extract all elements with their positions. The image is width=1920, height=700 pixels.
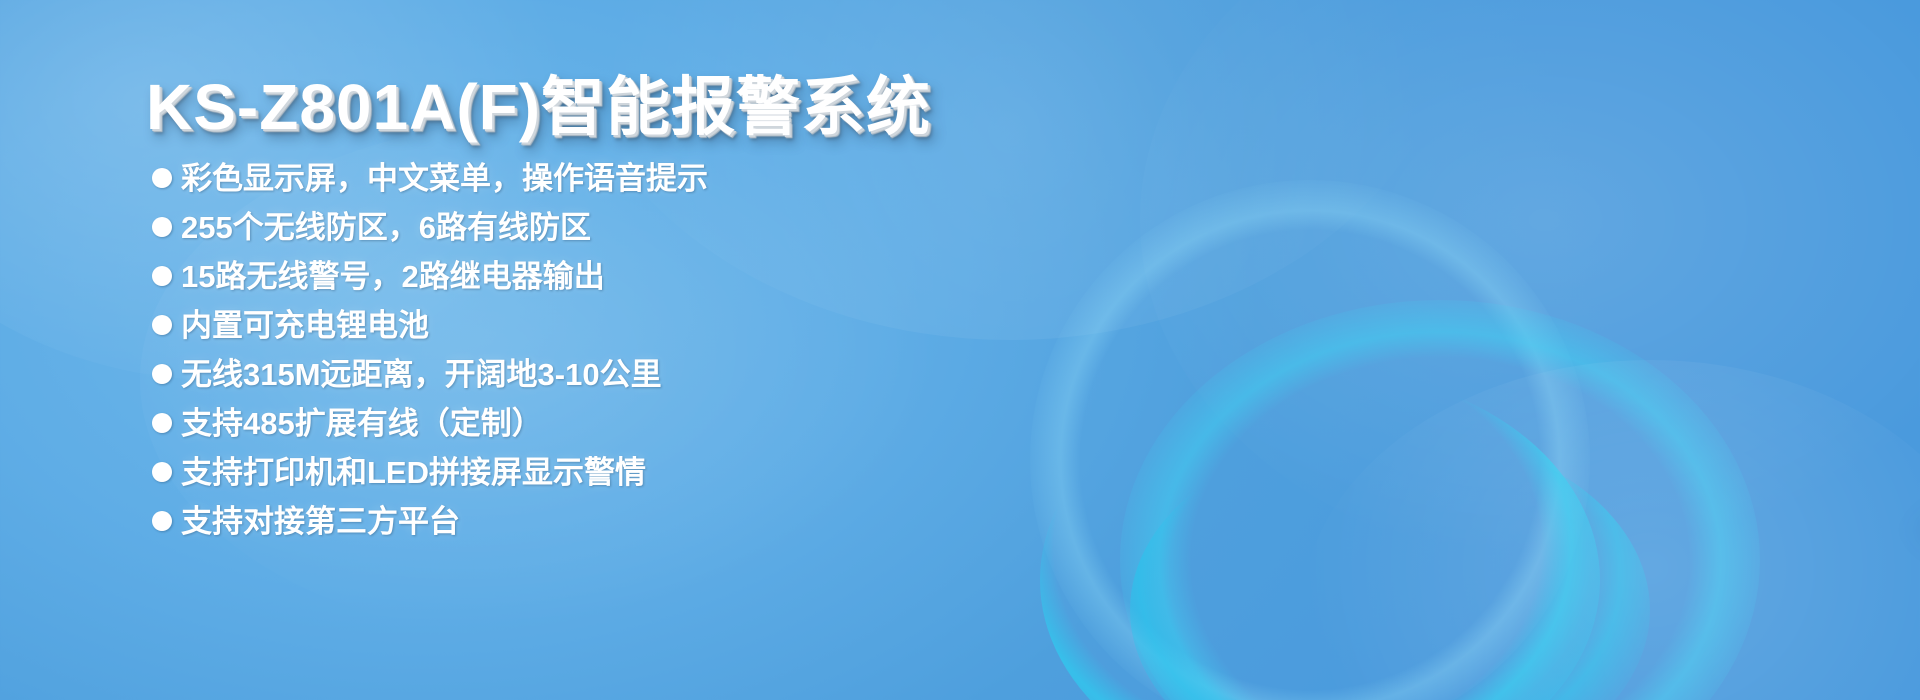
bullet-icon	[152, 266, 172, 286]
feature-item: 支持对接第三方平台	[152, 497, 952, 546]
bullet-icon	[152, 462, 172, 482]
bullet-icon	[152, 168, 172, 188]
feature-item-label: 无线315M远距离，开阔地3-10公里	[181, 350, 662, 399]
banner-content: KS-Z801A(F)智能报警系统 彩色显示屏，中文菜单，操作语音提示255个无…	[0, 0, 960, 700]
feature-list: 彩色显示屏，中文菜单，操作语音提示255个无线防区，6路有线防区15路无线警号，…	[152, 154, 952, 546]
feature-item: 彩色显示屏，中文菜单，操作语音提示	[152, 154, 952, 203]
product-image: 22 27 04-01-01 系统撤防 交流备电故障单布声音火警 123布防45…	[940, 0, 1920, 700]
feature-item: 255个无线防区，6路有线防区	[152, 203, 952, 252]
feature-item-label: 彩色显示屏，中文菜单，操作语音提示	[181, 154, 708, 203]
feature-item-label: 255个无线防区，6路有线防区	[181, 203, 591, 252]
feature-item-label: 支持485扩展有线（定制）	[181, 399, 543, 448]
feature-item: 15路无线警号，2路继电器输出	[152, 252, 952, 301]
feature-item: 内置可充电锂电池	[152, 301, 952, 350]
bullet-icon	[152, 217, 172, 237]
bullet-icon	[152, 511, 172, 531]
bullet-icon	[152, 364, 172, 384]
device-drop-shadow	[1900, 470, 1920, 590]
feature-item: 无线315M远距离，开阔地3-10公里	[152, 350, 952, 399]
page-title: KS-Z801A(F)智能报警系统	[146, 56, 931, 148]
bullet-icon	[152, 413, 172, 433]
feature-item-label: 内置可充电锂电池	[181, 301, 429, 350]
bullet-icon	[152, 315, 172, 335]
feature-item-label: 15路无线警号，2路继电器输出	[181, 252, 605, 301]
feature-item: 支持485扩展有线（定制）	[152, 399, 952, 448]
feature-item-label: 支持对接第三方平台	[181, 497, 460, 546]
feature-item: 支持打印机和LED拼接屏显示警情	[152, 448, 952, 497]
feature-item-label: 支持打印机和LED拼接屏显示警情	[181, 448, 646, 497]
